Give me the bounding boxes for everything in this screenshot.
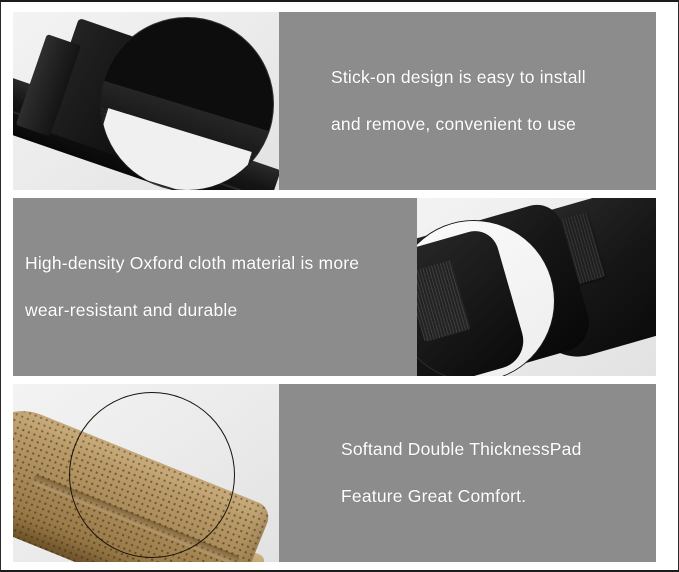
caption-line: wear-resistant and durable <box>25 301 429 320</box>
feature-panel-oxford-cloth: High-density Oxford cloth material is mo… <box>13 198 656 376</box>
caption-line: Stick-on design is easy to install <box>331 68 656 87</box>
caption-block-stick-on-design: Stick-on design is easy to install and r… <box>279 12 656 190</box>
product-infographic: Stick-on design is easy to install and r… <box>0 0 679 572</box>
caption-line: and remove, convenient to use <box>331 115 656 134</box>
feature-panel-thickness-pad: Softand Double ThicknessPad Feature Grea… <box>13 384 656 562</box>
caption-line: Softand Double ThicknessPad <box>341 440 656 459</box>
caption-block-thickness-pad: Softand Double ThicknessPad Feature Grea… <box>279 384 656 562</box>
product-photo-oxford-cloth <box>417 198 656 376</box>
product-photo-thickness-pad <box>13 384 279 562</box>
magnifier-circle-velcro <box>101 18 273 190</box>
pad-seam-line <box>31 474 241 562</box>
product-photo-stick-on-design <box>13 12 279 190</box>
magnifier-circle-oxford-cloth <box>417 220 555 376</box>
caption-block-oxford-cloth: High-density Oxford cloth material is mo… <box>13 198 429 376</box>
mesh-pad-shape <box>13 396 273 562</box>
feature-panel-stick-on-design: Stick-on design is easy to install and r… <box>13 12 656 190</box>
caption-line: Feature Great Comfort. <box>341 487 656 506</box>
caption-line: High-density Oxford cloth material is mo… <box>25 254 429 273</box>
